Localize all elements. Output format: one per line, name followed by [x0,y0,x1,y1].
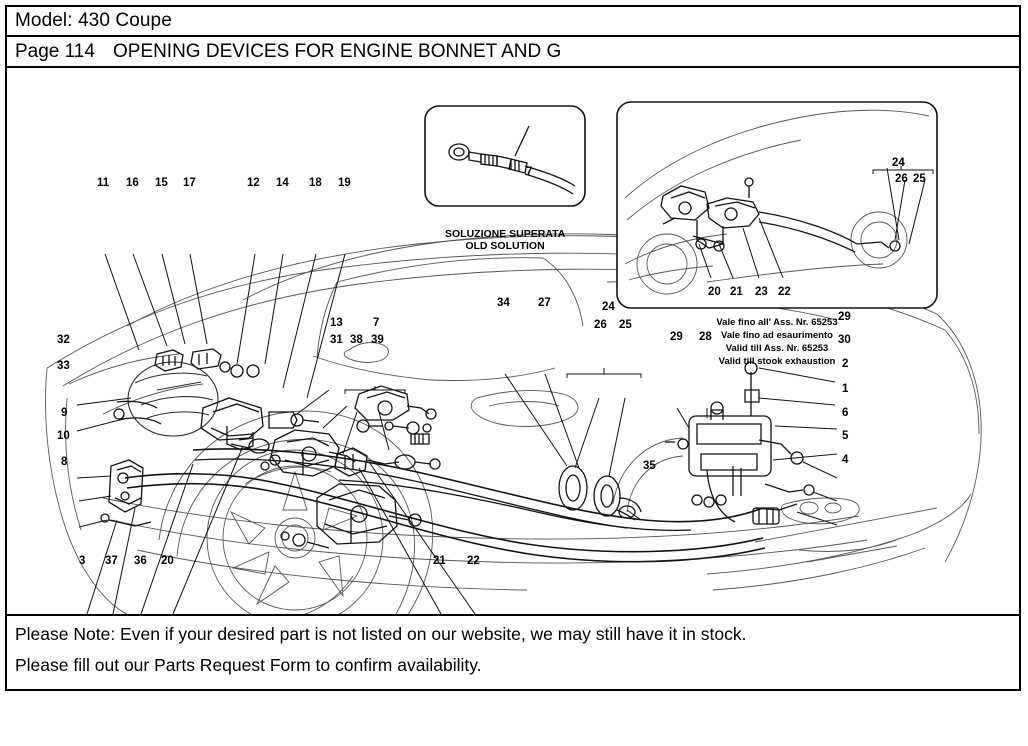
catalog-page-frame: Model: 430 Coupe Page 114 OPENING DEVICE… [5,5,1021,691]
callout-left-col-8: 8 [61,457,67,469]
callout-center-24: 24 [602,302,615,314]
validity-line-4: Valid till stook exhaustion [647,355,907,368]
callout-old-solution-7: 7 [526,167,532,179]
inset-validity-box [617,102,937,308]
callout-left-col-9: 9 [61,408,67,420]
callout-center-38: 38 [350,335,363,347]
callout-bottom-row-37: 37 [105,556,118,568]
inset-callout-23: 23 [755,287,768,299]
inset-old-solution-box [425,106,585,206]
callout-top-row-18: 18 [309,178,322,190]
inset-caption-en: OLD SOLUTION [445,240,565,252]
callout-right-col-4: 4 [842,455,848,467]
callout-right-col-2: 2 [842,359,848,371]
callout-top-row-19: 19 [338,178,351,190]
callout-center-13: 13 [330,318,343,330]
callout-center-34: 34 [497,298,510,310]
callout-right-col-5: 5 [842,431,848,443]
footer-note: Please Note: Even if your desired part i… [7,616,1019,687]
page-number-label: Page 114 [15,41,95,63]
callout-top-row-14: 14 [276,178,289,190]
callout-top-row-17: 17 [183,178,196,190]
page-title-row: Page 114 OPENING DEVICES FOR ENGINE BONN… [7,37,1019,68]
validity-line-2: Vale fino ad esaurimento [647,329,907,342]
callout-left-col-10: 10 [57,431,70,443]
callout-left-col-33: 33 [57,361,70,373]
callout-bottom-row-20: 20 [161,556,174,568]
inset-callout-21: 21 [730,287,743,299]
validity-line-1: Vale fino all' Ass. Nr. 65253 [647,316,907,329]
callout-right-col-1: 1 [842,384,848,396]
callout-top-row-11: 11 [97,178,109,190]
callout-center-31: 31 [330,335,343,347]
callout-center-35: 35 [643,461,656,473]
callout-bottom-row-22: 22 [467,556,480,568]
validity-line-3: Valid till Ass. Nr. 65253 [647,342,907,355]
callout-top-row-12: 12 [247,178,260,190]
inset-bracket-right-25: 25 [913,174,926,186]
footer-line-1: Please Note: Even if your desired part i… [15,622,1011,647]
callout-bottom-row-36: 36 [134,556,147,568]
callout-center-39: 39 [371,335,384,347]
page-title: OPENING DEVICES FOR ENGINE BONNET AND G [113,41,561,63]
callout-center-27: 27 [538,298,551,310]
callout-center-25: 25 [619,320,632,332]
callout-top-row-16: 16 [126,178,139,190]
callout-bottom-row-3: 3 [79,556,85,568]
callout-center-28: 28 [699,332,712,344]
callout-center-7: 7 [373,318,379,330]
callout-right-col-29: 29 [838,312,851,324]
model-label: Model: 430 Coupe [15,10,172,32]
inset-caption-it: SOLUZIONE SUPERATA [445,228,565,240]
callout-center-26: 26 [594,320,607,332]
callout-top-row-15: 15 [155,178,168,190]
inset-callout-20: 20 [708,287,721,299]
model-row: Model: 430 Coupe [7,7,1019,37]
callout-right-col-6: 6 [842,408,848,420]
callout-left-col-32: 32 [57,335,70,347]
inset-bracket-left-26: 26 [895,174,908,186]
inset-bracket-top-24: 24 [892,158,905,170]
inset-callout-22: 22 [778,287,791,299]
footer-line-2: Please fill out our Parts Request Form t… [15,653,1011,678]
parts-diagram: .ln{fill:none;stroke:#555;stroke-width:.… [7,68,1019,616]
callout-center-29: 29 [670,332,683,344]
callout-bottom-row-21: 21 [433,556,446,568]
callout-right-col-30: 30 [838,335,851,347]
